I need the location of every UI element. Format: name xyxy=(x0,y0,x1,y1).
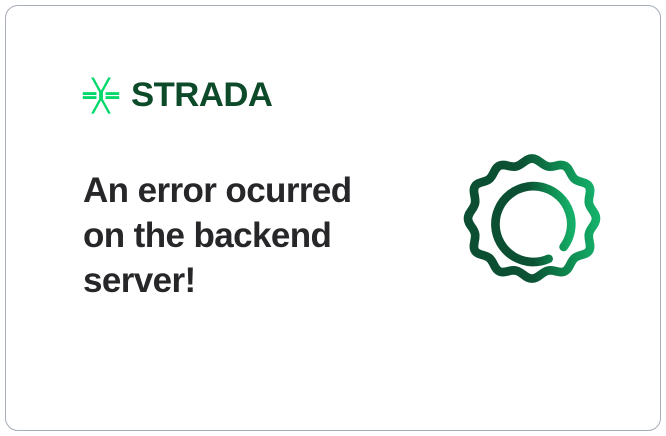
brand-logo: STRADA xyxy=(82,76,270,114)
error-card: STRADA An error ocurred on the backend s… xyxy=(5,5,661,431)
strada-asterisk-icon xyxy=(82,76,120,114)
error-headline: An error ocurred on the backend server! xyxy=(83,169,383,303)
error-screen: STRADA An error ocurred on the backend s… xyxy=(0,0,666,436)
brand-wordmark: STRADA xyxy=(131,78,272,112)
gear-cog-icon xyxy=(453,149,611,307)
